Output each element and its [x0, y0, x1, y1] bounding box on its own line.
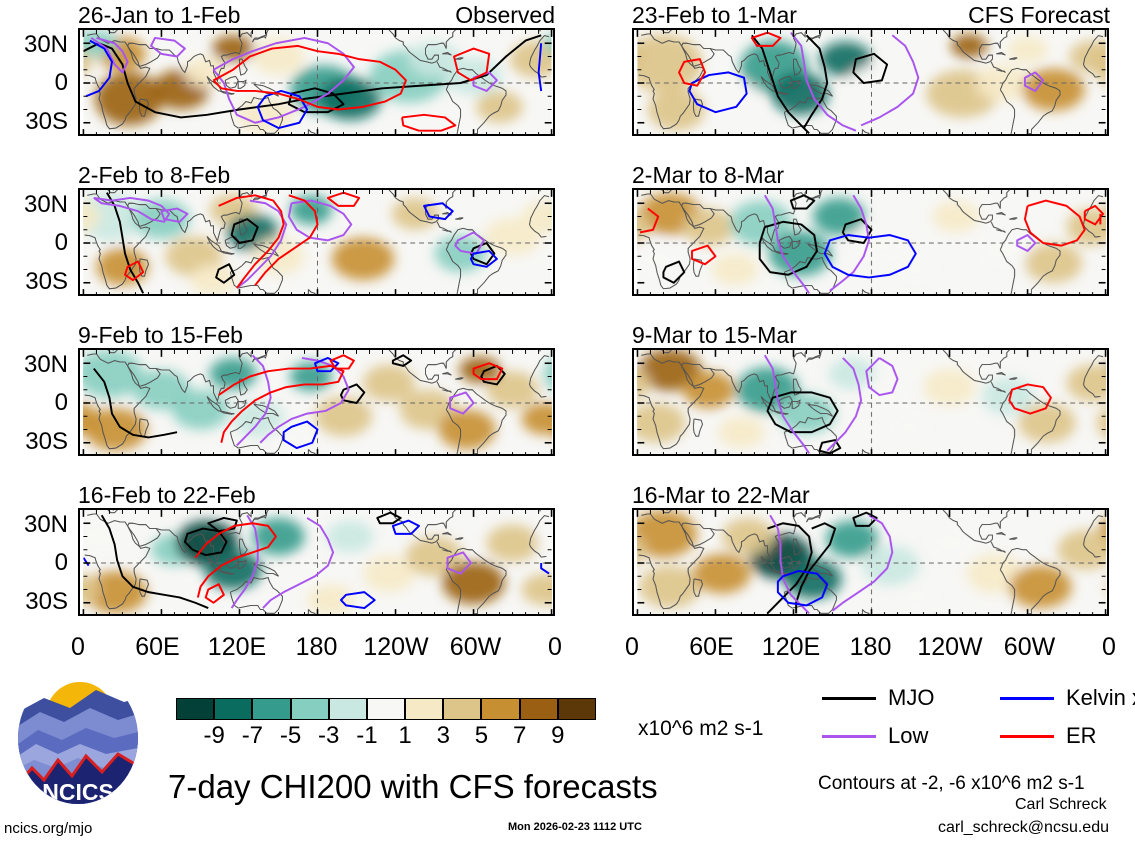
- colorbar-tick-label: 1: [384, 724, 426, 748]
- legend-label-mjo: MJO: [888, 687, 934, 709]
- colorbar-tick-label: 7: [499, 724, 541, 748]
- map-panel[interactable]: [78, 508, 555, 616]
- ytick-30s-r2: 30S: [0, 430, 68, 454]
- colorbar-segment: [481, 698, 519, 720]
- column-header-cfs: CFS Forecast: [930, 4, 1110, 27]
- ytick-30n-r0: 30N: [0, 33, 68, 57]
- panel-title-r3-left: 16-Feb to 22-Feb: [78, 484, 256, 507]
- map-panel[interactable]: [632, 28, 1109, 136]
- panel-title-r0-left: 26-Jan to 1-Feb: [78, 4, 240, 27]
- panel-title-r0-right: 23-Feb to 1-Mar: [632, 4, 797, 27]
- colorbar-tick-label: -5: [270, 724, 312, 748]
- map-panel[interactable]: [78, 348, 555, 456]
- contour-note: Contours at -2, -6 x10^6 m2 s-1: [818, 774, 1085, 793]
- colorbar-tick-label: 3: [422, 724, 464, 748]
- xtick-label-right: 0: [592, 635, 672, 660]
- xtick-label-left: 180: [277, 635, 357, 660]
- map-panel[interactable]: [632, 348, 1109, 456]
- panel-title-r3-right: 16-Mar to 22-Mar: [632, 484, 810, 507]
- map-panel[interactable]: [632, 188, 1109, 296]
- colorbar-units-label: x10^6 m2 s-1: [638, 718, 763, 739]
- column-header-observed: Observed: [385, 4, 555, 27]
- xtick-label-right: 60E: [672, 635, 752, 660]
- xtick-label-left: 120W: [356, 635, 436, 660]
- ncics-logo: NCICS: [14, 668, 142, 816]
- ytick-30n-r2: 30N: [0, 353, 68, 377]
- ytick-30s-r3: 30S: [0, 590, 68, 614]
- main-title: 7-day CHI200 with CFS forecasts: [168, 770, 658, 803]
- colorbar-segment: [367, 698, 405, 720]
- legend-label-kelvin: Kelvin x2: [1066, 687, 1135, 709]
- render-timestamp: Mon 2026-02-23 1112 UTC: [508, 822, 642, 833]
- author-name: Carl Schreck: [1015, 797, 1107, 813]
- ytick-30s-r1: 30S: [0, 270, 68, 294]
- ytick-30s-r0: 30S: [0, 110, 68, 134]
- ytick-30n-r1: 30N: [0, 193, 68, 217]
- xtick-label-left: 0: [515, 635, 595, 660]
- map-panel[interactable]: [632, 508, 1109, 616]
- colorbar-tick-label: -3: [308, 724, 350, 748]
- xtick-label-right: 120E: [751, 635, 831, 660]
- colorbar-tick-label: -1: [346, 724, 388, 748]
- colorbar-segment: [405, 698, 443, 720]
- colorbar-tick-label: -9: [193, 724, 235, 748]
- xtick-label-right: 60W: [990, 635, 1070, 660]
- xtick-label-left: 0: [38, 635, 118, 660]
- colorbar-segment: [558, 698, 596, 720]
- map-panel[interactable]: [78, 28, 555, 136]
- panel-title-r2-right: 9-Mar to 15-Mar: [632, 324, 797, 347]
- ytick-0-r0: 0: [0, 71, 68, 95]
- legend-label-low: Low: [888, 725, 928, 747]
- xtick-label-right: 120W: [910, 635, 990, 660]
- legend-swatch-low: [822, 735, 876, 738]
- xtick-label-left: 60E: [118, 635, 198, 660]
- colorbar-segment: [443, 698, 481, 720]
- panel-title-r2-left: 9-Feb to 15-Feb: [78, 324, 243, 347]
- ytick-0-r1: 0: [0, 231, 68, 255]
- colorbar-segment: [329, 698, 367, 720]
- author-email: carl_schreck@ncsu.edu: [938, 820, 1109, 836]
- legend-swatch-er: [1000, 735, 1054, 738]
- panel-title-r1-right: 2-Mar to 8-Mar: [632, 164, 784, 187]
- colorbar-segment: [214, 698, 252, 720]
- xtick-label-right: 0: [1069, 635, 1135, 660]
- legend-swatch-mjo: [822, 697, 876, 700]
- colorbar-segment: [520, 698, 558, 720]
- panel-title-r1-left: 2-Feb to 8-Feb: [78, 164, 230, 187]
- colorbar: [176, 698, 596, 722]
- xtick-label-left: 60W: [436, 635, 516, 660]
- colorbar-segment: [176, 698, 214, 720]
- ytick-0-r2: 0: [0, 391, 68, 415]
- legend-swatch-kelvin: [1000, 697, 1054, 700]
- colorbar-segment: [291, 698, 329, 720]
- svg-text:NCICS: NCICS: [42, 779, 114, 805]
- ytick-0-r3: 0: [0, 551, 68, 575]
- colorbar-tick-label: 5: [460, 724, 502, 748]
- colorbar-segment: [252, 698, 290, 720]
- xtick-label-left: 120E: [197, 635, 277, 660]
- legend-label-er: ER: [1066, 725, 1097, 747]
- colorbar-tick-label: 9: [537, 724, 579, 748]
- xtick-label-right: 180: [831, 635, 911, 660]
- colorbar-tick-label: -7: [231, 724, 273, 748]
- ytick-30n-r3: 30N: [0, 513, 68, 537]
- site-url[interactable]: ncics.org/mjo: [4, 821, 92, 836]
- map-panel[interactable]: [78, 188, 555, 296]
